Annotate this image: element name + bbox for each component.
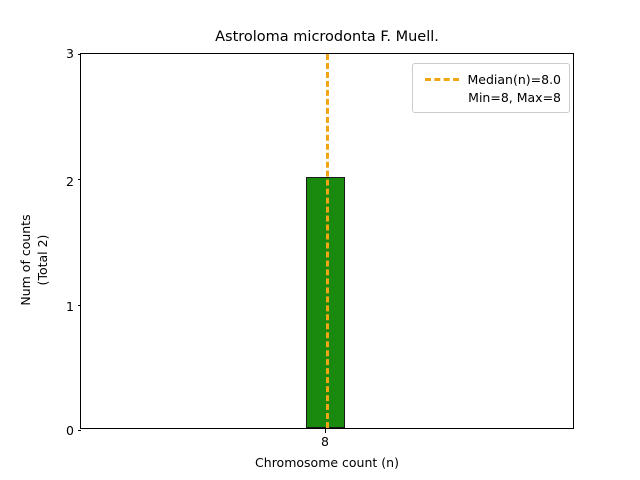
ytick-mark-1 [78,305,82,306]
y-axis-label-line1: Num of counts [18,214,33,305]
ytick-label-0: 0 [52,423,74,438]
ytick-label-1: 1 [52,299,74,314]
xtick-mark-8 [325,429,326,433]
legend: Median(n)=8.0 Min=8, Max=8 [412,63,570,113]
legend-label-median: Median(n)=8.0 [468,72,562,87]
plot-area: Median(n)=8.0 Min=8, Max=8 [80,53,574,429]
y-axis-label-line2: (Total 2) [35,235,50,286]
ytick-label-2: 2 [52,174,74,189]
ytick-label-3: 3 [52,46,74,61]
legend-label-minmax: Min=8, Max=8 [468,90,561,105]
median-line [326,54,329,428]
y-axis-label: Num of counts(Total 2) [17,72,55,448]
xtick-label-8: 8 [321,434,329,449]
x-axis-label: Chromosome count (n) [80,455,574,470]
ytick-mark-0 [78,430,82,431]
legend-dashed-line-icon [425,78,459,81]
legend-entry-minmax: Min=8, Max=8 [421,88,561,106]
ytick-mark-3 [78,54,82,55]
page-title: Astroloma microdonta F. Muell. [80,29,574,45]
legend-entry-median: Median(n)=8.0 [421,70,561,88]
chart-figure: Astroloma microdonta F. Muell. 0 1 2 3 8… [0,0,640,480]
ytick-mark-2 [78,179,82,180]
